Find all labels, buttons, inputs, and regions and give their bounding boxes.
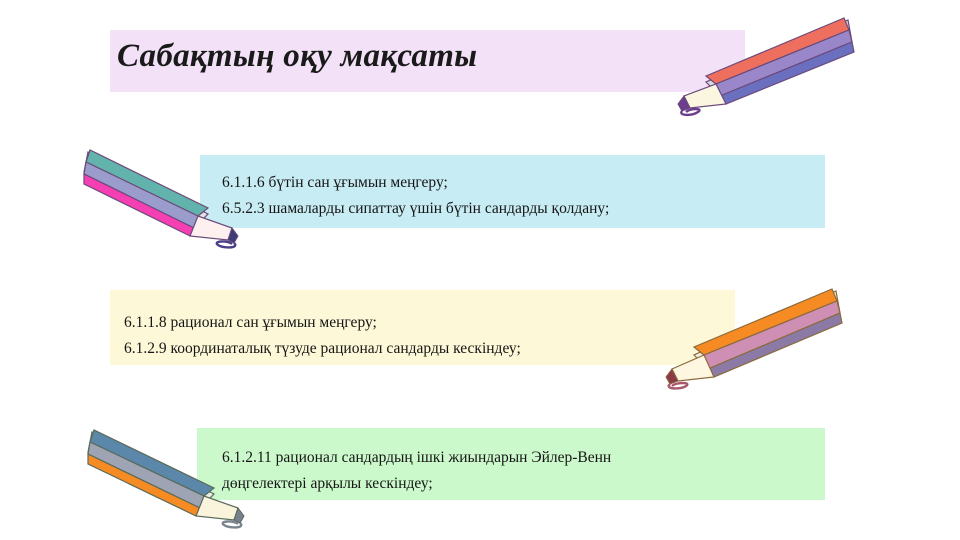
objective-line: 6.1.1.6 бүтін сан ұғымын меңгеру; [222,170,609,196]
slide-canvas: Сабақтың оқу мақсаты 6.1.1.6 бүтін сан ұ… [0,0,960,540]
objective-box-1-text: 6.1.1.6 бүтін сан ұғымын меңгеру; 6.5.2.… [222,170,609,222]
objective-line: 6.1.2.9 координаталық түзуде рационал са… [124,336,521,362]
objective-line: 6.1.1.8 рационал сан ұғымын меңгеру; [124,310,521,336]
objective-box-2-text: 6.1.1.8 рационал сан ұғымын меңгеру; 6.1… [124,310,521,362]
page-title: Сабақтың оқу мақсаты [117,38,757,75]
objective-box-3-text: 6.1.2.11 рационал сандардың ішкі жиындар… [222,445,762,497]
objective-line: 6.1.2.11 рационал сандардың ішкі жиындар… [222,445,762,471]
objective-line: дөңгелектері арқылы кескіндеу; [222,471,762,497]
objective-line: 6.5.2.3 шамаларды сипаттау үшін бүтін са… [222,196,609,222]
